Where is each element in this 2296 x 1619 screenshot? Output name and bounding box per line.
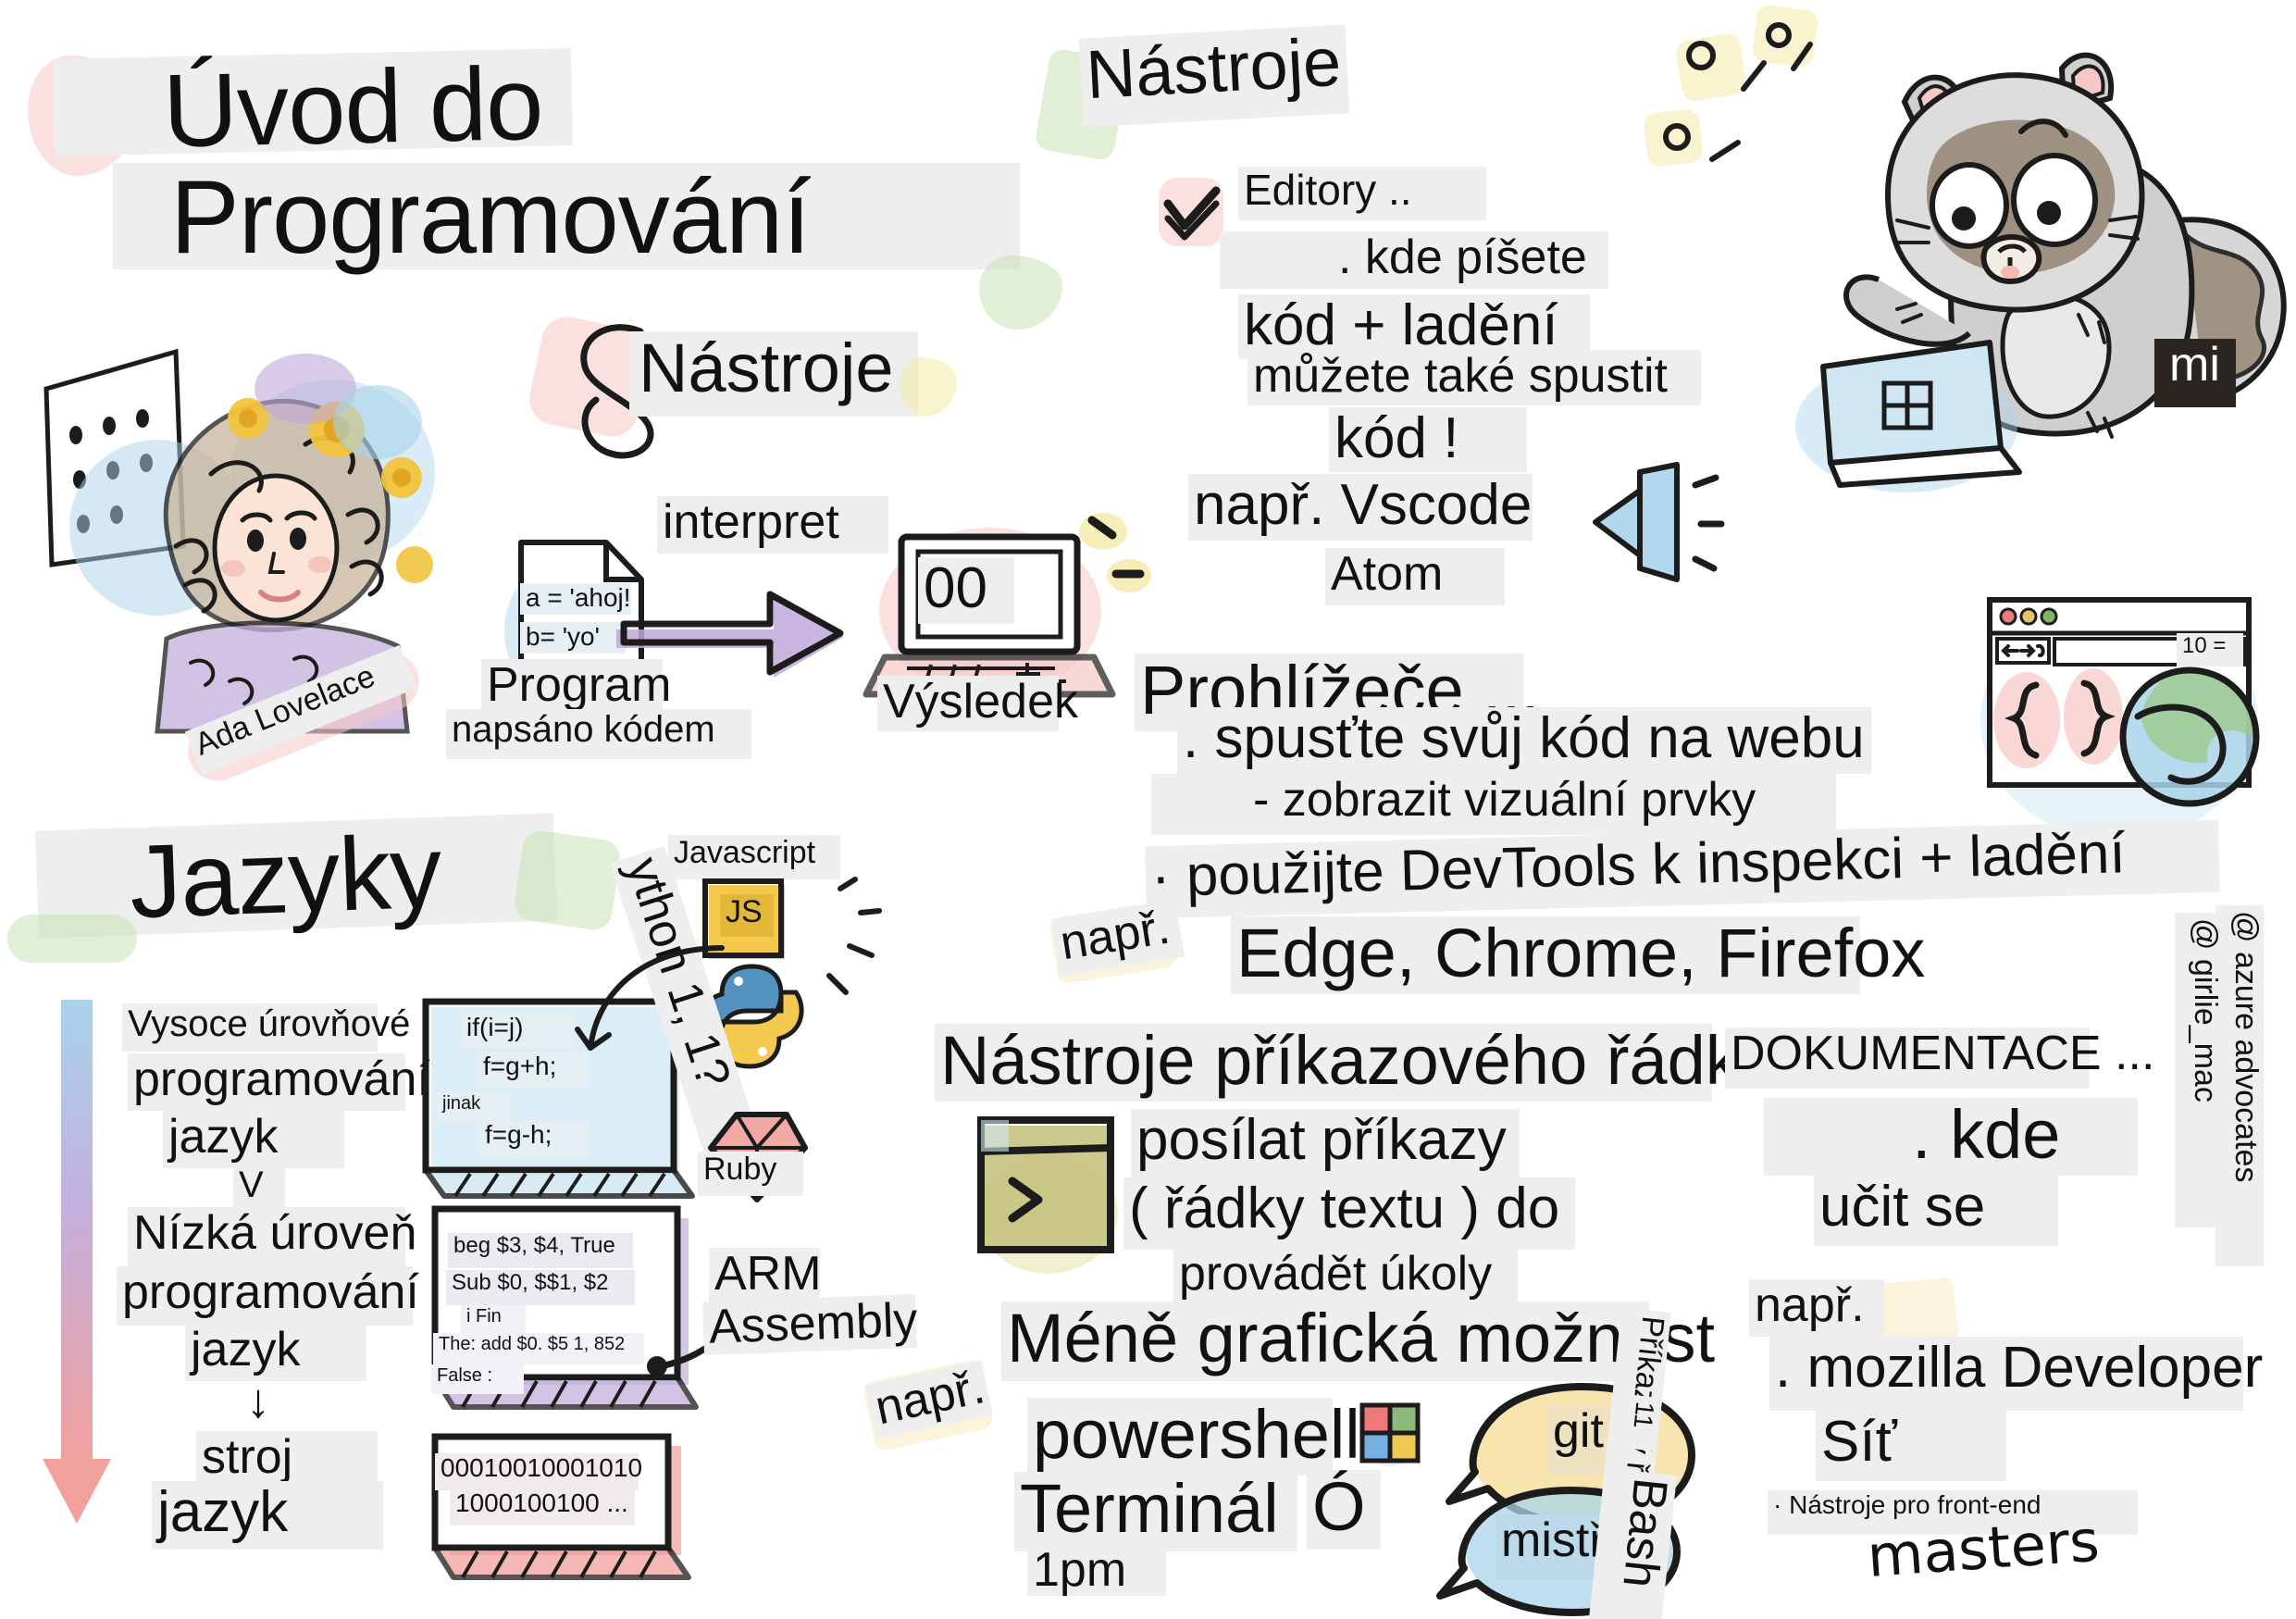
cli-example-1pm: 1pm	[1027, 1544, 1166, 1596]
browser-window-illustration	[1971, 581, 2286, 859]
result-screen-value: 00	[918, 557, 1014, 624]
cli-vertical-11: 11	[1618, 1394, 1660, 1451]
browsers-examples: Edge, Chrome, Firefox	[1231, 916, 1860, 994]
cli-line-2: ( řádky textu ) do	[1123, 1177, 1575, 1250]
blob-yellow-subtitle	[900, 357, 957, 417]
cli-example-powershell: powershell	[1027, 1398, 1333, 1476]
terminal-icon	[964, 1111, 1140, 1277]
code-asm-2: Sub $0, $$1, $2	[446, 1270, 635, 1305]
low-level-line-1: Nízká úroveň	[128, 1207, 405, 1266]
docs-footnote-hand: masters	[1860, 1507, 2142, 1600]
cli-line-1: posílat příkazy	[1131, 1109, 1520, 1181]
code-asm-5: False :	[431, 1364, 524, 1394]
languages-connector-curve	[574, 937, 731, 1085]
code-binary-2: 1000100100 ...	[450, 1488, 635, 1526]
docs-example-2: Síť	[1816, 1411, 2006, 1481]
thought-bubbles-icon	[1657, 19, 1860, 194]
vscode-icon	[1571, 463, 1729, 592]
watermark-mi: mi	[2154, 339, 2236, 407]
code-binary-1: 00010010001010	[435, 1453, 639, 1490]
high-level-line-1: Vysoce úrovňové	[122, 1003, 378, 1052]
browser-url-badge: 10 =	[2177, 633, 2243, 666]
blob-green-languages-2	[7, 915, 137, 963]
low-level-line-2: programování	[117, 1266, 413, 1326]
flow-label-result: Výsledek	[877, 676, 1059, 731]
docs-eg-label: např.	[1749, 1279, 1884, 1337]
docs-heading: DOKUMENTACE ...	[1725, 1027, 2090, 1089]
cli-subheading: Méně grafická možnost	[1001, 1301, 1649, 1381]
page-title-line1: Úvod do	[53, 48, 573, 156]
code-line-2: b= 'yo'	[520, 622, 626, 654]
windows-icon	[1353, 1398, 1427, 1472]
cli-example-terminal: Terminál	[1014, 1472, 1297, 1551]
python-sparkle-icon	[803, 879, 905, 1065]
blob-green-title	[979, 255, 1062, 330]
languages-connector-2: ↓	[241, 1376, 298, 1427]
languages-connector-1: V	[233, 1164, 285, 1211]
sparkle-icon	[1055, 509, 1157, 620]
editors-heading: Editory ..	[1238, 167, 1486, 220]
flow-label-program: Program	[481, 659, 663, 716]
tools-heading: Nástroje	[1079, 25, 1350, 128]
editors-line-3: můžete také spustit	[1247, 350, 1701, 405]
javascript-label: Javascript	[668, 835, 840, 879]
infographic-canvas: Úvod do Programování Nástroje	[0, 0, 2296, 1619]
low-level-line-3: jazyk	[185, 1324, 366, 1381]
docs-line-2: učit se	[1814, 1176, 2058, 1246]
editors-line-5: např. Vscode	[1188, 474, 1533, 541]
code-asm-3: i Fin	[461, 1305, 526, 1335]
editors-line-6: Atom	[1325, 548, 1505, 605]
arrow-label-interpret: interpret	[657, 496, 888, 554]
code-high-3: jinak	[437, 1092, 511, 1124]
code-high-4: f=g-h;	[479, 1120, 589, 1157]
docs-example-1: . mozilla Developer	[1769, 1337, 2243, 1411]
code-asm-1: beg $3, $4, True	[448, 1233, 633, 1268]
code-high-2: f=g+h;	[478, 1052, 587, 1089]
editors-line-4: kód !	[1329, 407, 1527, 472]
high-level-line-3: jazyk	[163, 1111, 344, 1168]
code-asm-4: The: add $0. $5 1, 852	[433, 1333, 644, 1364]
docs-line-1: . kde	[1764, 1098, 2138, 1176]
subtitle-tools: Nástroje	[629, 331, 918, 417]
ruby-label: Ruby	[698, 1152, 803, 1196]
browsers-line-1: . spusťte svůj kód na webu	[1177, 707, 1871, 774]
code-high-1: if(i=j)	[461, 1013, 576, 1050]
credit-girlie-mac: @ girlie_mac	[2175, 913, 2223, 1227]
machine-line-1: stroj	[196, 1431, 378, 1487]
mac-glyph: Ó	[1307, 1470, 1381, 1550]
editors-line-1: . kde píšete	[1220, 231, 1608, 289]
high-level-line-2: programování	[128, 1053, 405, 1111]
flow-label-program-sub: napsáno kódem	[446, 709, 751, 759]
assembly-label-2: Assembly	[702, 1294, 917, 1355]
assembly-label-1: ARM	[709, 1248, 820, 1301]
page-title-line2: Programování	[113, 163, 1020, 269]
machine-line-2: jazyk	[152, 1481, 383, 1550]
browsers-line-2: - zobrazit vizuální prvky	[1151, 774, 1836, 835]
javascript-badge: JS	[720, 894, 774, 937]
cli-heading: Nástroje příkazového řádku ..	[935, 1024, 1712, 1102]
blob-green-languages	[513, 828, 623, 932]
